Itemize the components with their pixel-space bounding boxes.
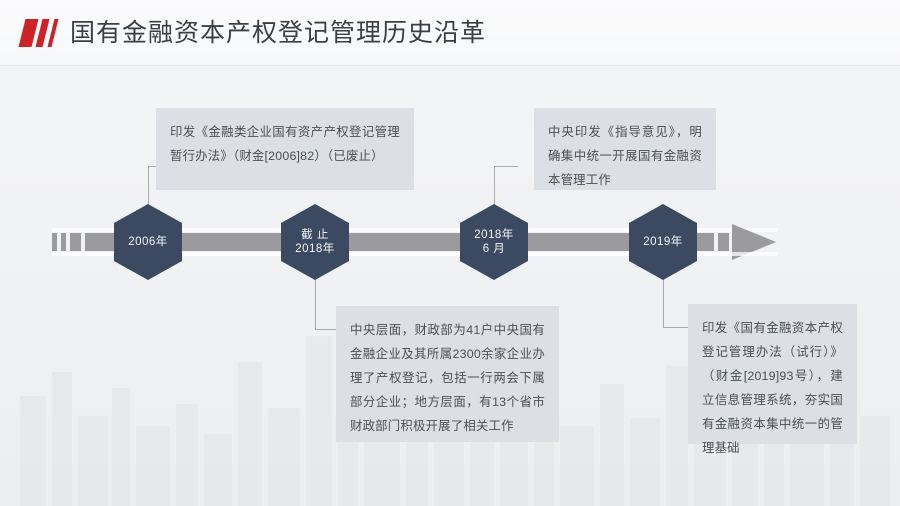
callout-box-2018-cutoff: 中央层面，财政部为41户中央国有金融企业及其所属2300余家企业办理了产权登记，… <box>336 306 559 442</box>
timeline-node-2019[interactable]: 2019年 <box>629 204 697 280</box>
timeline-node-2018-06[interactable]: 2018年 6 月 <box>460 204 528 280</box>
axis-dash-segment <box>52 233 57 251</box>
node-label-line2: 6 月 <box>474 242 514 256</box>
callout-box-2006: 印发《金融类企业国有资产产权登记管理暂行办法》（财金[2006]82）（已废止） <box>156 108 414 190</box>
timeline-node-2006[interactable]: 2006年 <box>114 204 182 280</box>
slide-canvas: 国有金融资本产权登记管理历史沿革 2006年 <box>0 0 900 506</box>
node-label-line1: 2019年 <box>643 235 683 249</box>
header-divider <box>0 65 900 66</box>
connector-2019 <box>663 272 691 328</box>
axis-dash-segment <box>61 233 66 251</box>
node-label-line1: 截 止 <box>295 228 335 242</box>
axis-dash-segment <box>70 233 81 251</box>
callout-box-2019: 印发《国有金融资本产权登记管理办法（试行）》（财金[2019]93号），建立信息… <box>688 304 857 444</box>
red-slash-accent-icon <box>22 19 60 47</box>
timeline-node-2018-cutoff[interactable]: 截 止 2018年 <box>281 204 349 280</box>
axis-dash-segment <box>696 233 714 251</box>
node-label-line1: 2006年 <box>128 235 168 249</box>
callout-box-2018-06: 中央印发《指导意见》，明确集中统一开展国有金融资本管理工作 <box>534 108 716 190</box>
node-label-line2: 2018年 <box>295 242 335 256</box>
page-title: 国有金融资本产权登记管理历史沿革 <box>70 14 486 52</box>
node-label-line1: 2018年 <box>474 228 514 242</box>
axis-main-bar <box>132 233 692 251</box>
axis-dash-segment <box>718 233 729 251</box>
